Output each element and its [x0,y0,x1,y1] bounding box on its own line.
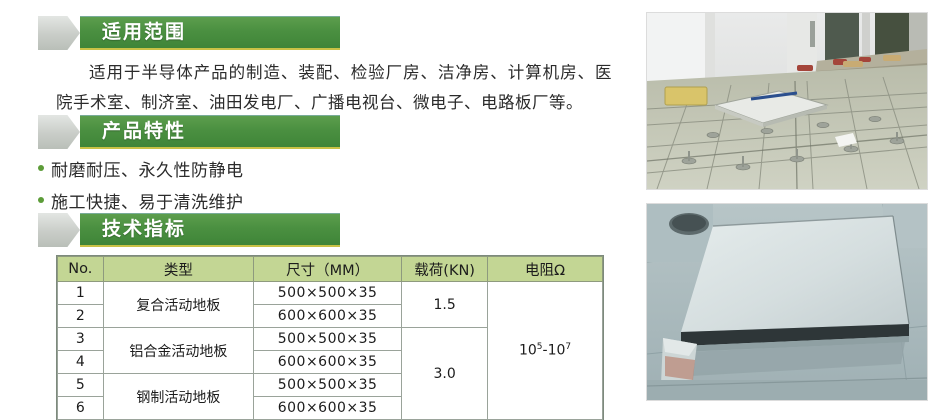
resistance-base-2: 10 [548,343,566,359]
scope-paragraph: 适用于半导体产品的制造、装配、检验厂房、洁净房、计算机房、医院手术室、制济室、油… [56,58,612,118]
col-header-load: 载荷(KN) [402,257,488,282]
section-header-specs: 技术指标 [38,213,340,247]
table-row: 1 复合活动地板 500×500×35 1.5 105-107 [58,282,603,305]
cell-size: 600×600×35 [254,305,402,328]
photo-floor-panel-closeup [646,203,928,401]
cell-no: 5 [58,374,104,397]
feature-text: 施工快捷、易于清洗维护 [51,188,244,213]
section-header-features: 产品特性 [38,115,340,149]
col-header-size: 尺寸（MM） [254,257,402,282]
product-spec-page: 适用范围 适用于半导体产品的制造、装配、检验厂房、洁净房、计算机房、医院手术室、… [0,0,930,411]
col-header-resistance: 电阻Ω [488,257,603,282]
chevron-right-icon [38,213,80,247]
cell-no: 4 [58,351,104,374]
cell-no: 2 [58,305,104,328]
chevron-right-icon [38,115,80,149]
section-header-bar: 适用范围 [80,16,340,50]
section-title-features: 产品特性 [102,122,186,141]
cell-size: 600×600×35 [254,397,402,420]
section-title-specs: 技术指标 [102,220,186,239]
cell-size: 500×500×35 [254,282,402,305]
photo-installation-site [646,12,928,190]
section-header-bar: 技术指标 [80,213,340,247]
cell-resistance: 105-107 [488,282,603,420]
section-header-scope: 适用范围 [38,16,340,50]
list-item: 耐磨耐压、永久性防静电 [38,155,244,181]
bullet-dot-icon [38,197,44,203]
photo-column [646,0,930,411]
resistance-exp-high: 7 [565,342,571,352]
bullet-dot-icon [38,165,44,171]
list-item: 施工快捷、易于清洗维护 [38,187,244,213]
cell-type: 铝合金活动地板 [103,328,253,374]
cell-load: 1.5 [402,282,488,328]
cell-size: 600×600×35 [254,351,402,374]
spec-table: No. 类型 尺寸（MM） 载荷(KN) 电阻Ω 1 复合活动地板 500×50… [57,256,603,420]
cell-load: 3.0 [402,328,488,420]
raised-access-floor-installation-image [647,13,927,189]
col-header-type: 类型 [103,257,253,282]
resistance-base: 10 [519,343,537,359]
chevron-right-icon [38,16,80,50]
table-header-row: No. 类型 尺寸（MM） 载荷(KN) 电阻Ω [58,257,603,282]
feature-list: 耐磨耐压、永久性防静电 施工快捷、易于清洗维护 [38,155,244,219]
col-header-no: No. [58,257,104,282]
raised-floor-panel-closeup-image [647,204,927,400]
cell-no: 3 [58,328,104,351]
section-title-scope: 适用范围 [102,23,186,42]
spec-table-wrapper: No. 类型 尺寸（MM） 载荷(KN) 电阻Ω 1 复合活动地板 500×50… [57,256,603,420]
spec-table-body: 1 复合活动地板 500×500×35 1.5 105-107 2 600×60… [58,282,603,420]
spec-table-head: No. 类型 尺寸（MM） 载荷(KN) 电阻Ω [58,257,603,282]
cell-type: 钢制活动地板 [103,374,253,420]
cell-size: 500×500×35 [254,328,402,351]
cell-size: 500×500×35 [254,374,402,397]
content-column: 适用范围 适用于半导体产品的制造、装配、检验厂房、洁净房、计算机房、医院手术室、… [0,0,630,411]
cell-no: 1 [58,282,104,305]
feature-text: 耐磨耐压、永久性防静电 [51,156,244,181]
cell-type: 复合活动地板 [103,282,253,328]
section-header-bar: 产品特性 [80,115,340,149]
cell-no: 6 [58,397,104,420]
